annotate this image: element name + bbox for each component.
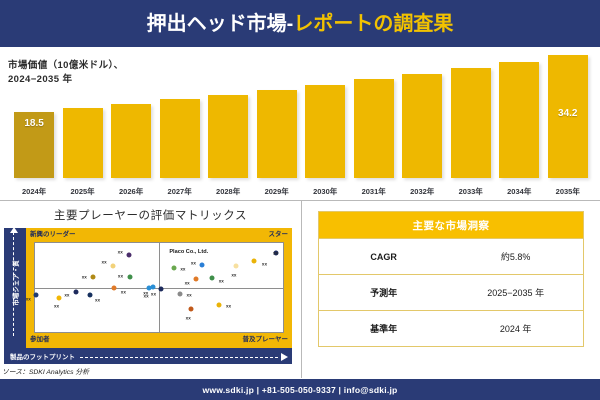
- matrix-data-point: [178, 291, 183, 296]
- bar-column: 18.52024年: [14, 49, 54, 178]
- bar-column: 2030年: [305, 49, 345, 178]
- bar-category-label: 2032年: [396, 186, 448, 197]
- matrix-data-point: [127, 253, 132, 258]
- matrix-data-point: [252, 258, 257, 263]
- bar-column: 2029年: [257, 49, 297, 178]
- matrix-y-axis: 市場シェア・質: [4, 228, 26, 348]
- matrix-data-point: [128, 274, 133, 279]
- report-header-bar: 押出ヘッド市場-レポートの調査果: [0, 0, 600, 47]
- bar: 2028年: [208, 95, 248, 178]
- bar: 2025年: [63, 108, 103, 178]
- matrix-data-point-label: xx: [273, 250, 278, 255]
- insights-table-header-row: 主要な市場洞察: [319, 212, 584, 239]
- bar-value-label: 34.2: [548, 108, 588, 119]
- bar: 18.52024年: [14, 112, 54, 178]
- matrix-data-point-label: xx: [82, 274, 87, 279]
- market-value-bar-chart: 市場価値（10億米ドル）、 2024−2035 年 18.52024年2025年…: [0, 47, 600, 200]
- matrix-data-point-label: xx: [219, 278, 224, 283]
- page-title-primary: 押出ヘッド市場-: [147, 13, 294, 35]
- matrix-quadrant-frame: 新興のリーダー スター Placo Co., Ltd. xxxxxxxxxxxx…: [26, 228, 292, 348]
- matrix-data-point-label: xx: [143, 290, 148, 295]
- matrix-bottom-band: 参加者 普及プレーヤー: [26, 333, 292, 348]
- bar: 2027年: [160, 99, 200, 178]
- bar: 2029年: [257, 90, 297, 178]
- matrix-data-point: [87, 292, 92, 297]
- bar-category-label: 2031年: [348, 186, 400, 197]
- matrix-data-point-label: xx: [26, 296, 31, 301]
- bar: 2030年: [305, 85, 345, 178]
- matrix-data-point-label: xx: [187, 292, 192, 297]
- matrix-x-axis-label: 製品のフットプリント: [10, 351, 75, 361]
- bar-category-label: 2027年: [154, 186, 206, 197]
- bar: 2034年: [499, 62, 539, 178]
- insights-table-row: 予測年2025−2035 年: [319, 275, 584, 311]
- bar-value-label: 18.5: [14, 118, 54, 129]
- bar-category-label: 2029年: [251, 186, 303, 197]
- insights-row-key: 基準年: [319, 311, 449, 347]
- matrix-data-point-label: xx: [180, 266, 185, 271]
- player-evaluation-matrix-panel: 主要プレーヤーの評価マトリックス 市場シェア・質 新興のリーダー スター Pla…: [0, 201, 301, 378]
- matrix-data-point-label: xx: [191, 261, 196, 266]
- footer-bar: www.sdki.jp | +81-505-050-9337 | info@sd…: [0, 379, 600, 400]
- matrix-data-point: [111, 264, 116, 269]
- matrix-y-axis-label: 市場シェア・質: [10, 231, 20, 335]
- matrix-title: 主要プレーヤーの評価マトリックス: [0, 207, 301, 223]
- bar-category-label: 2030年: [299, 186, 351, 197]
- matrix-x-axis-line: [80, 357, 278, 358]
- matrix-data-point-label: xx: [118, 273, 123, 278]
- bar-category-label: 2035年: [542, 186, 594, 197]
- matrix-data-point: [216, 303, 221, 308]
- bar-column: 34.22035年: [548, 49, 588, 178]
- bar: 2032年: [402, 74, 442, 178]
- quadrant-label-emerging-leaders: 新興のリーダー: [30, 228, 76, 242]
- bar-column: 2034年: [499, 49, 539, 178]
- matrix-data-point-label: xx: [121, 290, 126, 295]
- source-note: ソース：SDKI Analytics 分析: [2, 366, 89, 376]
- matrix-data-point: [189, 306, 194, 311]
- page-title: 押出ヘッド市場-レポートの調査果: [147, 14, 454, 34]
- matrix-data-point: [112, 286, 117, 291]
- bar-column: 2028年: [208, 49, 248, 178]
- bar: 2026年: [111, 104, 151, 178]
- insights-table-row: CAGR約5.8%: [319, 239, 584, 275]
- key-market-insights-panel: 主要な市場洞察 CAGR約5.8%予測年2025−2035 年基準年2024 年: [302, 201, 600, 378]
- footer-contact-text: www.sdki.jp | +81-505-050-9337 | info@sd…: [202, 385, 397, 395]
- bar-category-label: 2028年: [202, 186, 254, 197]
- matrix-data-point: [91, 274, 96, 279]
- quadrant-label-pervasive-players: 普及プレーヤー: [243, 333, 289, 347]
- matrix-data-point: [233, 264, 238, 269]
- matrix-data-point: [210, 275, 215, 280]
- matrix-data-point: [56, 296, 61, 301]
- bar-column: 2026年: [111, 49, 151, 178]
- matrix-data-point-label: xx: [54, 304, 59, 309]
- bar-category-label: 2024年: [8, 186, 60, 197]
- matrix-data-point-label: xx: [185, 281, 190, 286]
- matrix-data-point-label: xx: [231, 273, 236, 278]
- quadrant-label-participants: 参加者: [30, 333, 50, 347]
- insights-table-header-label: 主要な市場洞察: [319, 212, 584, 239]
- matrix-data-point-label: xx: [118, 250, 123, 255]
- matrix-data-point: [200, 263, 205, 268]
- matrix-data-point-label: xx: [102, 260, 107, 265]
- page-title-accent: レポートの調査果: [293, 13, 453, 35]
- bar-category-label: 2033年: [445, 186, 497, 197]
- matrix-data-point-label: xx: [151, 292, 156, 297]
- matrix-data-point-label: xx: [186, 315, 191, 320]
- insights-row-value: 約5.8%: [448, 239, 583, 275]
- insights-table-row: 基準年2024 年: [319, 311, 584, 347]
- bar-category-label: 2026年: [105, 186, 157, 197]
- matrix-data-point: [34, 292, 39, 297]
- bar-column: 2031年: [354, 49, 394, 178]
- matrix-data-point-label: xx: [262, 261, 267, 266]
- matrix-x-axis: 製品のフットプリント: [4, 348, 292, 364]
- matrix-data-point: [171, 265, 176, 270]
- insights-row-value: 2024 年: [448, 311, 583, 347]
- matrix-top-band: 新興のリーダー スター: [26, 228, 292, 242]
- matrix-data-point: [73, 289, 78, 294]
- matrix-data-point-label: xx: [95, 297, 100, 302]
- matrix-data-point: [150, 284, 155, 289]
- bar: 34.22035年: [548, 55, 588, 178]
- bar: 2033年: [451, 68, 491, 178]
- bar-column: 2027年: [160, 49, 200, 178]
- bar-column: 2032年: [402, 49, 442, 178]
- chart-plot-area: 18.52024年2025年2026年2027年2028年2029年2030年2…: [6, 47, 594, 200]
- bar-category-label: 2025年: [57, 186, 109, 197]
- chart-bars: 18.52024年2025年2026年2027年2028年2029年2030年2…: [14, 49, 588, 178]
- matrix-data-point: [159, 287, 164, 292]
- matrix-data-point-label: xx: [64, 292, 69, 297]
- insights-row-value: 2025−2035 年: [448, 275, 583, 311]
- matrix-data-point: [194, 277, 199, 282]
- insights-table-body: 主要な市場洞察 CAGR約5.8%予測年2025−2035 年基準年2024 年: [319, 212, 584, 347]
- insights-row-key: CAGR: [319, 239, 449, 275]
- bar-category-label: 2034年: [493, 186, 545, 197]
- arrow-right-icon: [281, 353, 288, 361]
- matrix-named-player-label: Placo Co., Ltd.: [169, 249, 208, 255]
- matrix-chart: 市場シェア・質 新興のリーダー スター Placo Co., Ltd. xxxx…: [4, 228, 292, 348]
- bar: 2031年: [354, 79, 394, 178]
- matrix-data-point-label: xx: [226, 304, 231, 309]
- bar-column: 2033年: [451, 49, 491, 178]
- quadrant-label-stars: スター: [269, 228, 289, 242]
- matrix-scatter-grid: Placo Co., Ltd. xxxxxxxxxxxxxxxxxxxxxxxx…: [34, 242, 284, 333]
- insights-row-key: 予測年: [319, 275, 449, 311]
- insights-table: 主要な市場洞察 CAGR約5.8%予測年2025−2035 年基準年2024 年: [318, 211, 584, 347]
- bar-column: 2025年: [63, 49, 103, 178]
